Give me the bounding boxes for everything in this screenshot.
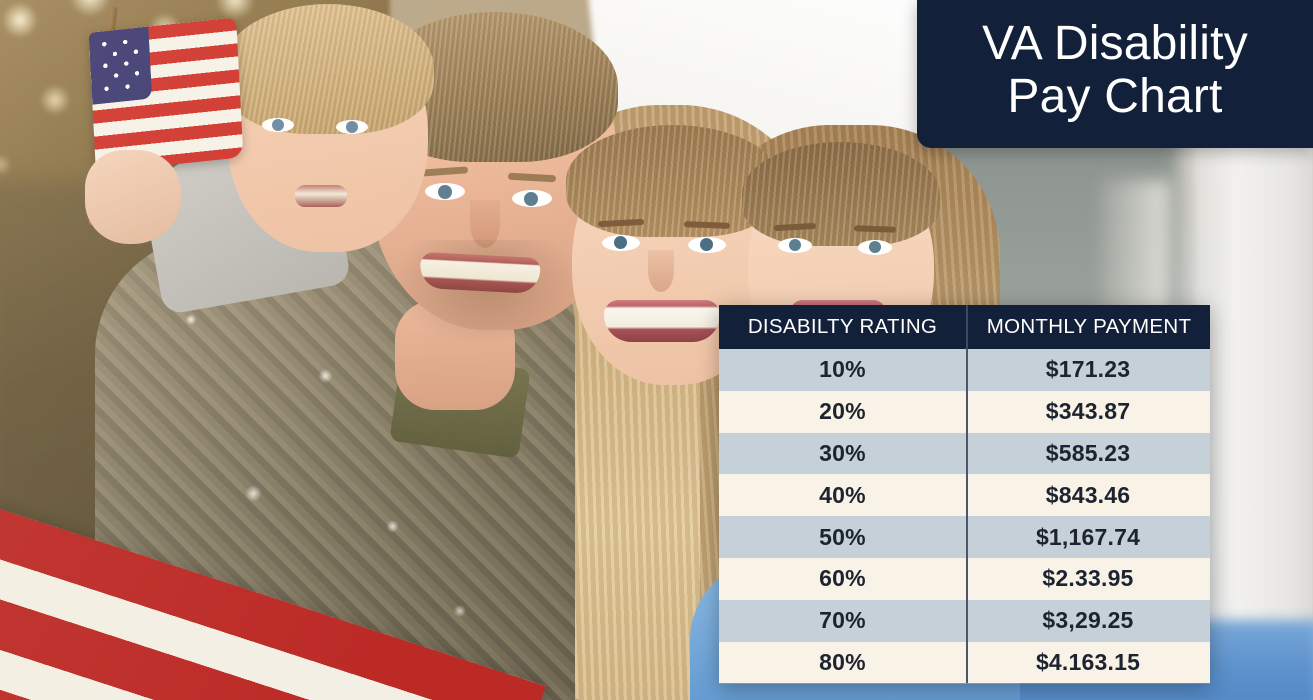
cell-rating: 20% — [719, 398, 966, 425]
cell-rating: 70% — [719, 607, 966, 634]
table-body: 10% $171.23 20% $343.87 30% $585.23 40% … — [719, 349, 1210, 683]
girl-eye-left — [778, 238, 812, 253]
table-header-row: DISABILTY RATING MONTHLY PAYMENT — [719, 305, 1210, 349]
table-row: 70% $3,29.25 — [719, 600, 1210, 642]
mother-eye-right — [688, 237, 726, 253]
table-row: 50% $1,167.74 — [719, 516, 1210, 558]
boy-smile — [295, 185, 347, 207]
cell-rating: 30% — [719, 440, 966, 467]
boy-hair — [222, 4, 434, 134]
cell-payment: $343.87 — [966, 398, 1210, 425]
girl-hair-top — [742, 142, 940, 246]
table-row: 80% $4.163.15 — [719, 642, 1210, 684]
boy-eye-right — [336, 120, 368, 134]
cell-payment: $843.46 — [966, 482, 1210, 509]
cell-rating: 40% — [719, 482, 966, 509]
title-line-1: VA Disability — [982, 20, 1248, 69]
table-row: 10% $171.23 — [719, 349, 1210, 391]
girl-eye-right — [858, 240, 892, 255]
american-flag-icon — [89, 17, 244, 172]
cell-payment: $171.23 — [966, 356, 1210, 383]
soldier-smile — [419, 252, 541, 294]
mother-smile — [604, 300, 720, 342]
va-disability-pay-chart-graphic: VA Disability Pay Chart DISABILTY RATING… — [0, 0, 1313, 700]
column-header-monthly-payment: MONTHLY PAYMENT — [968, 305, 1210, 349]
table-row: 20% $343.87 — [719, 391, 1210, 433]
cell-payment: $1,167.74 — [966, 524, 1210, 551]
cell-rating: 50% — [719, 524, 966, 551]
cell-rating: 80% — [719, 649, 966, 676]
cell-rating: 10% — [719, 356, 966, 383]
boy-hand — [85, 150, 181, 244]
boy-eye-left — [262, 118, 294, 132]
table-column-divider — [966, 349, 968, 683]
cell-payment: $585.23 — [966, 440, 1210, 467]
soldier-eye-left — [425, 183, 465, 200]
mother-nose — [648, 250, 674, 292]
flag-canton-stars — [89, 27, 153, 105]
title-line-2: Pay Chart — [1007, 73, 1222, 122]
title-banner: VA Disability Pay Chart — [917, 0, 1313, 148]
mother-eye-left — [602, 235, 640, 251]
soldier-eye-right — [512, 190, 552, 207]
table-row: 40% $843.46 — [719, 474, 1210, 516]
pay-table: DISABILTY RATING MONTHLY PAYMENT 10% $17… — [719, 305, 1210, 684]
table-row: 60% $2.33.95 — [719, 558, 1210, 600]
cell-payment: $4.163.15 — [966, 649, 1210, 676]
cell-rating: 60% — [719, 565, 966, 592]
table-row: 30% $585.23 — [719, 433, 1210, 475]
cell-payment: $2.33.95 — [966, 565, 1210, 592]
cell-payment: $3,29.25 — [966, 607, 1210, 634]
column-header-disability-rating: DISABILTY RATING — [719, 305, 966, 349]
